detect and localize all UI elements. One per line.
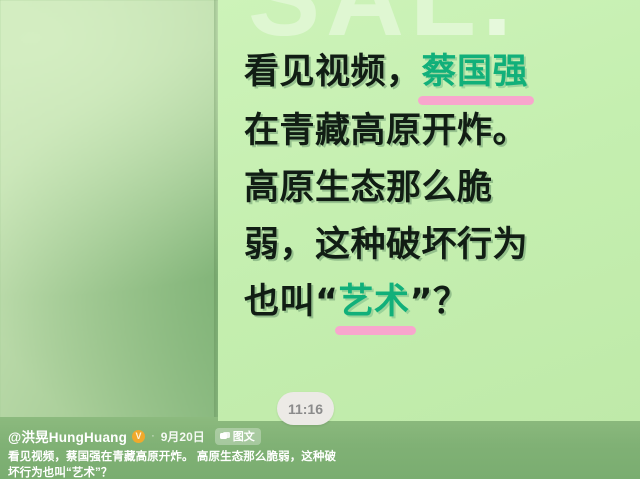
headline-line-5: 也叫“艺术”？ — [244, 274, 624, 333]
image-text-icon — [220, 432, 230, 441]
headline-line-1: 看见视频，蔡国强 — [244, 44, 624, 103]
poster-headline: 看见视频，蔡国强 在青藏高原开炸。 高原生态那么脆 弱，这种破坏行为 也叫“艺术… — [244, 44, 624, 333]
headline-line-5-post: ”？ — [410, 282, 469, 322]
screenshot-root: SAL. 看见视频，蔡国强 在青藏高原开炸。 高原生态那么脆 弱，这种破坏行为 … — [0, 0, 640, 479]
post-date: 9月20日 — [161, 428, 205, 445]
author-row: @洪晃HungHuang V · 9月20日 图文 — [8, 426, 632, 446]
headline-line-2: 在青藏高原开炸。 — [244, 103, 624, 160]
headline-highlight-name: 蔡国强 — [422, 44, 529, 103]
headline-highlight-art: 艺术 — [339, 274, 410, 333]
author-name[interactable]: @洪晃HungHuang — [8, 426, 127, 446]
post-meta-bar: @洪晃HungHuang V · 9月20日 图文 看见视频，蔡国强在青藏高原开… — [0, 421, 640, 479]
post-caption: 看见视频，蔡国强在青藏高原开炸。 高原生态那么脆弱，这种破坏行为也叫“艺术”？ — [8, 449, 338, 479]
headline-line-1-pre: 看见视频， — [244, 52, 422, 92]
headline-line-5-pre: 也叫“ — [244, 282, 339, 322]
poster-card[interactable]: SAL. 看见视频，蔡国强 在青藏高原开炸。 高原生态那么脆 弱，这种破坏行为 … — [218, 0, 640, 421]
verified-badge-icon: V — [132, 430, 145, 443]
headline-line-4: 弱，这种破坏行为 — [244, 217, 624, 274]
content-type-label: 图文 — [233, 428, 255, 444]
meta-separator: · — [150, 430, 156, 442]
timestamp-text: 11:16 — [288, 401, 323, 417]
content-type-badge[interactable]: 图文 — [215, 428, 261, 445]
headline-line-3: 高原生态那么脆 — [244, 160, 624, 217]
